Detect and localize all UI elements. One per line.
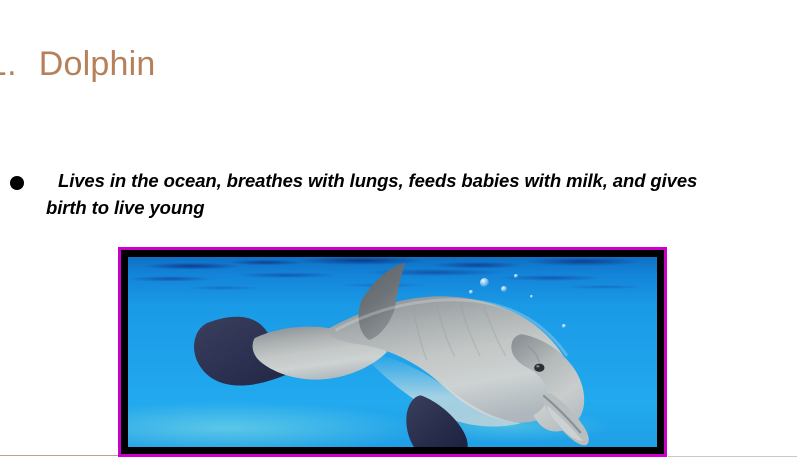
dolphin-picture-frame — [118, 247, 667, 457]
dolphin-photo — [128, 257, 657, 447]
bullet-item-label: Lives in the ocean, breathes with lungs,… — [46, 168, 740, 222]
dolphin-illustration — [128, 257, 657, 447]
footer-rule-left — [0, 455, 118, 456]
bullet-point-icon — [10, 176, 24, 190]
title-label: Dolphin — [39, 47, 156, 81]
slide-canvas: 1. Dolphin Lives in the ocean, breathes … — [0, 0, 797, 460]
footer-rule-right — [668, 456, 797, 457]
page-title: 1. Dolphin — [0, 40, 548, 88]
bullet-list-item: Lives in the ocean, breathes with lungs,… — [10, 168, 740, 222]
title-number: 1. — [0, 47, 17, 81]
